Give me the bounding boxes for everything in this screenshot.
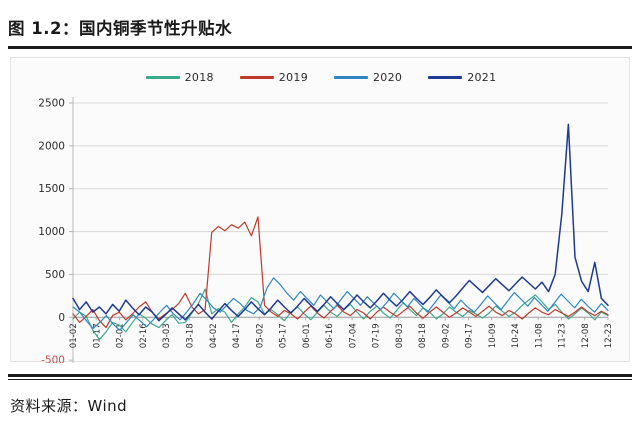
series-line-2020 bbox=[73, 278, 608, 330]
figure-page: 图 1.2：国内铜季节性升贴水 2018 2019 2020 2021 2500… bbox=[0, 0, 640, 427]
x-axis-tick-label: 08-18 bbox=[418, 323, 428, 348]
x-axis-tick-label: 09-17 bbox=[465, 323, 475, 348]
y-axis-tick-label: 1000 bbox=[38, 226, 65, 238]
figure-title-row: 图 1.2：国内铜季节性升贴水 bbox=[8, 10, 632, 44]
x-axis-tick-label: 10-24 bbox=[511, 323, 521, 348]
y-axis-tick-label: 0 bbox=[58, 312, 65, 324]
x-axis-tick-label: 04-02 bbox=[209, 323, 219, 348]
plot-bounds bbox=[73, 91, 608, 363]
chart-panel: 2018 2019 2020 2021 25002000150010005000… bbox=[10, 57, 630, 362]
series-line-2019 bbox=[73, 217, 608, 328]
x-axis-tick-label: 07-19 bbox=[372, 323, 382, 348]
x-axis-tick-label: 01-02 bbox=[69, 323, 79, 348]
page-title: 图 1.2：国内铜季节性升贴水 bbox=[8, 15, 232, 39]
x-axis-tick-label: 06-01 bbox=[302, 323, 312, 348]
y-gridlines: 25002000150010005000-500-1000 bbox=[34, 98, 608, 364]
x-axis-tick-label: 09-02 bbox=[441, 323, 451, 348]
source-row: 资料来源：Wind bbox=[10, 392, 410, 418]
x-axis-tick-label: 11-23 bbox=[558, 323, 568, 348]
y-axis-tick-label: 2500 bbox=[38, 98, 65, 110]
y-axis-tick-label: -500 bbox=[41, 355, 65, 363]
y-axis-tick-label: 2000 bbox=[38, 140, 65, 152]
chart-svg: 25002000150010005000-500-100001-0201-170… bbox=[11, 58, 631, 363]
x-axis-tick-label: 12-08 bbox=[581, 323, 591, 348]
x-axis-tick-label: 03-03 bbox=[162, 323, 172, 348]
x-axis-tick-label: 11-08 bbox=[534, 323, 544, 348]
x-axis-tick-label: 12-23 bbox=[604, 323, 614, 348]
series-line-2021 bbox=[73, 124, 608, 320]
x-axis-tick-label: 05-02 bbox=[255, 323, 265, 348]
source-divider-thin bbox=[8, 379, 632, 380]
x-axis-tick-label: 07-04 bbox=[348, 323, 358, 348]
plot-area: 25002000150010005000-500-100001-0201-170… bbox=[11, 58, 631, 363]
x-axis-tick-label: 10-09 bbox=[488, 323, 498, 348]
x-axis-tick-label: 08-03 bbox=[395, 323, 405, 348]
source-label: 资料来源：Wind bbox=[10, 395, 127, 416]
x-axis-tick-label: 05-17 bbox=[279, 323, 289, 348]
source-divider-thick bbox=[8, 374, 632, 377]
x-axis-tick-label: 04-17 bbox=[232, 323, 242, 348]
title-divider bbox=[8, 46, 632, 49]
x-axis-tick-label: 03-18 bbox=[186, 323, 196, 348]
y-axis-tick-label: 1500 bbox=[38, 183, 65, 195]
x-axis-tick-label: 02-16 bbox=[139, 323, 149, 348]
y-axis-tick-label: 500 bbox=[45, 269, 65, 281]
x-axis-tick-label: 06-16 bbox=[325, 323, 335, 348]
